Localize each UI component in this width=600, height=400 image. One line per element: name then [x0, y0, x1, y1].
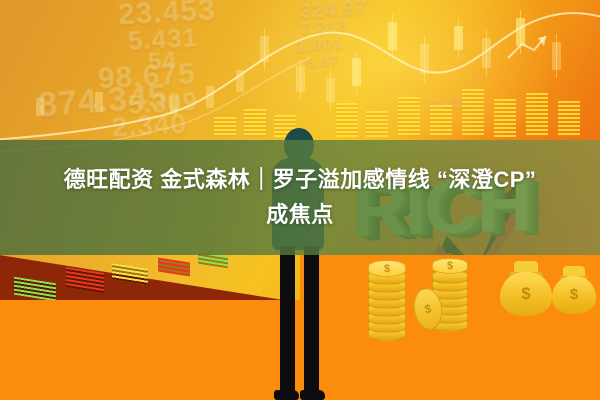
- silhouette-shoe: [300, 390, 325, 400]
- silhouette-leg: [304, 246, 319, 392]
- bag-body: $: [500, 272, 552, 316]
- coin-stack-left: $: [368, 260, 404, 344]
- headline-line-2: 成焦点: [266, 198, 334, 232]
- banner-image: 23.453 5.431 54 98.675 874.345 5.309 2.3…: [0, 0, 600, 400]
- silhouette-shoe: [274, 390, 299, 400]
- money-bag: $: [500, 256, 552, 316]
- silhouette-leg: [280, 246, 295, 392]
- headline: 德旺配资 金式森林｜罗子溢加感情线 “深澄CP” 成焦点: [0, 140, 600, 255]
- bag-body: $: [552, 276, 596, 314]
- coin-face: $: [368, 260, 406, 277]
- coin-face: $: [432, 258, 468, 274]
- money-bag: $: [552, 262, 596, 314]
- headline-line-1: 德旺配资 金式森林｜罗子溢加感情线 “深澄CP”: [64, 163, 537, 197]
